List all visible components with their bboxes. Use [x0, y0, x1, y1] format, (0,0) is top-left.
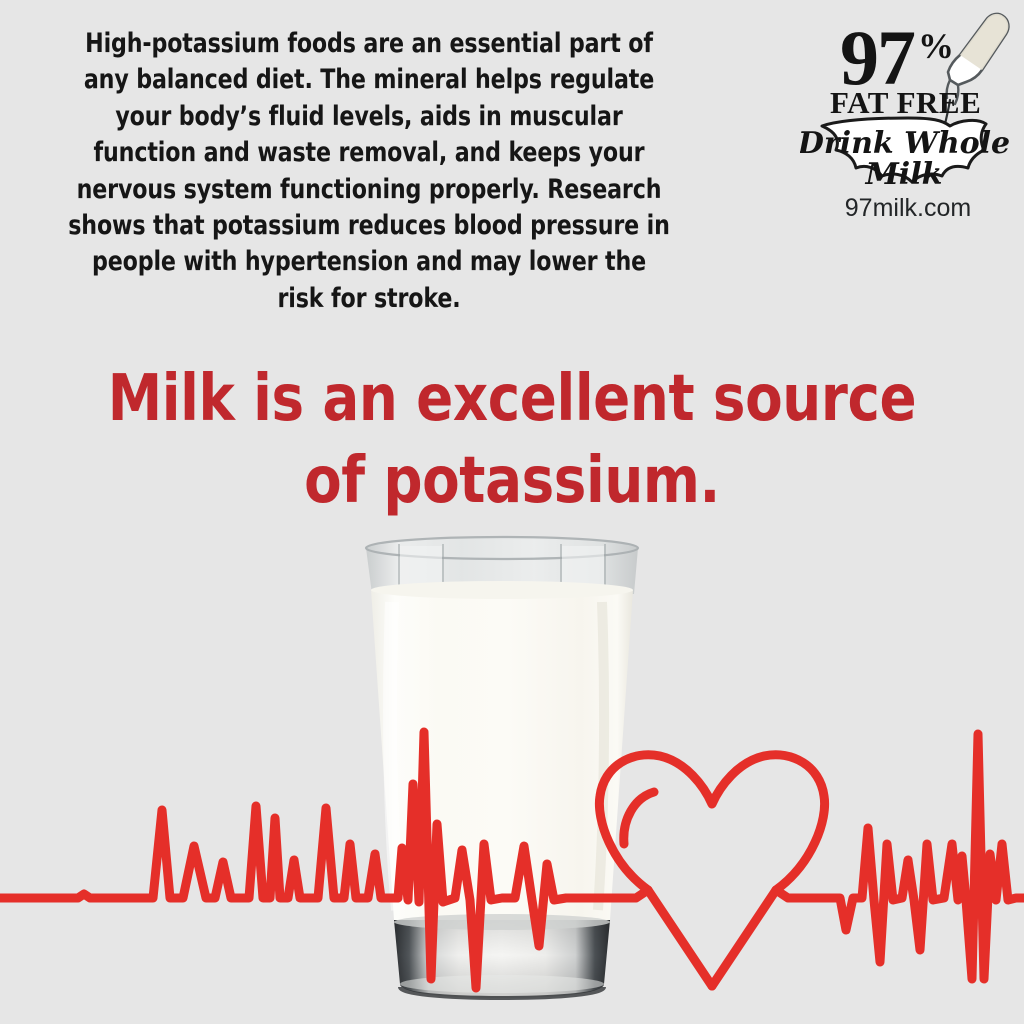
ekg-heart-exit-right [776, 890, 820, 898]
ekg-right-trace [820, 734, 1024, 979]
ekg-left-trace [0, 806, 398, 898]
heart-bottom-right [712, 890, 776, 986]
ekg-left-tall-spike [398, 732, 443, 979]
logo-fat-free-label: FAT FREE [830, 85, 981, 120]
logo-script-line-1: Drink Whole [800, 126, 1010, 161]
heartbeat-ekg-line-with-heart-icon [0, 724, 1024, 1024]
body-paragraph: High-potassium foods are an essential pa… [67, 26, 672, 317]
infographic-poster: High-potassium foods are an essential pa… [0, 0, 1024, 1024]
heart-inner-arc-detail [624, 792, 654, 844]
page-title: Milk is an excellent source of potassium… [85, 358, 940, 522]
ekg-left-post-spike [443, 844, 600, 988]
ekg-heart-approach-left [600, 890, 648, 898]
logo-percent-symbol: % [918, 26, 954, 66]
heart-outline-icon [599, 755, 824, 890]
brand-logo[interactable]: 97 % FAT FREE Drink Whole Milk 97milk.co… [800, 8, 1016, 224]
milk-surface [371, 581, 633, 599]
logo-script-line-2: Milk [865, 157, 943, 192]
logo-website-label: 97milk.com [845, 194, 971, 222]
heart-bottom-left [648, 890, 712, 986]
